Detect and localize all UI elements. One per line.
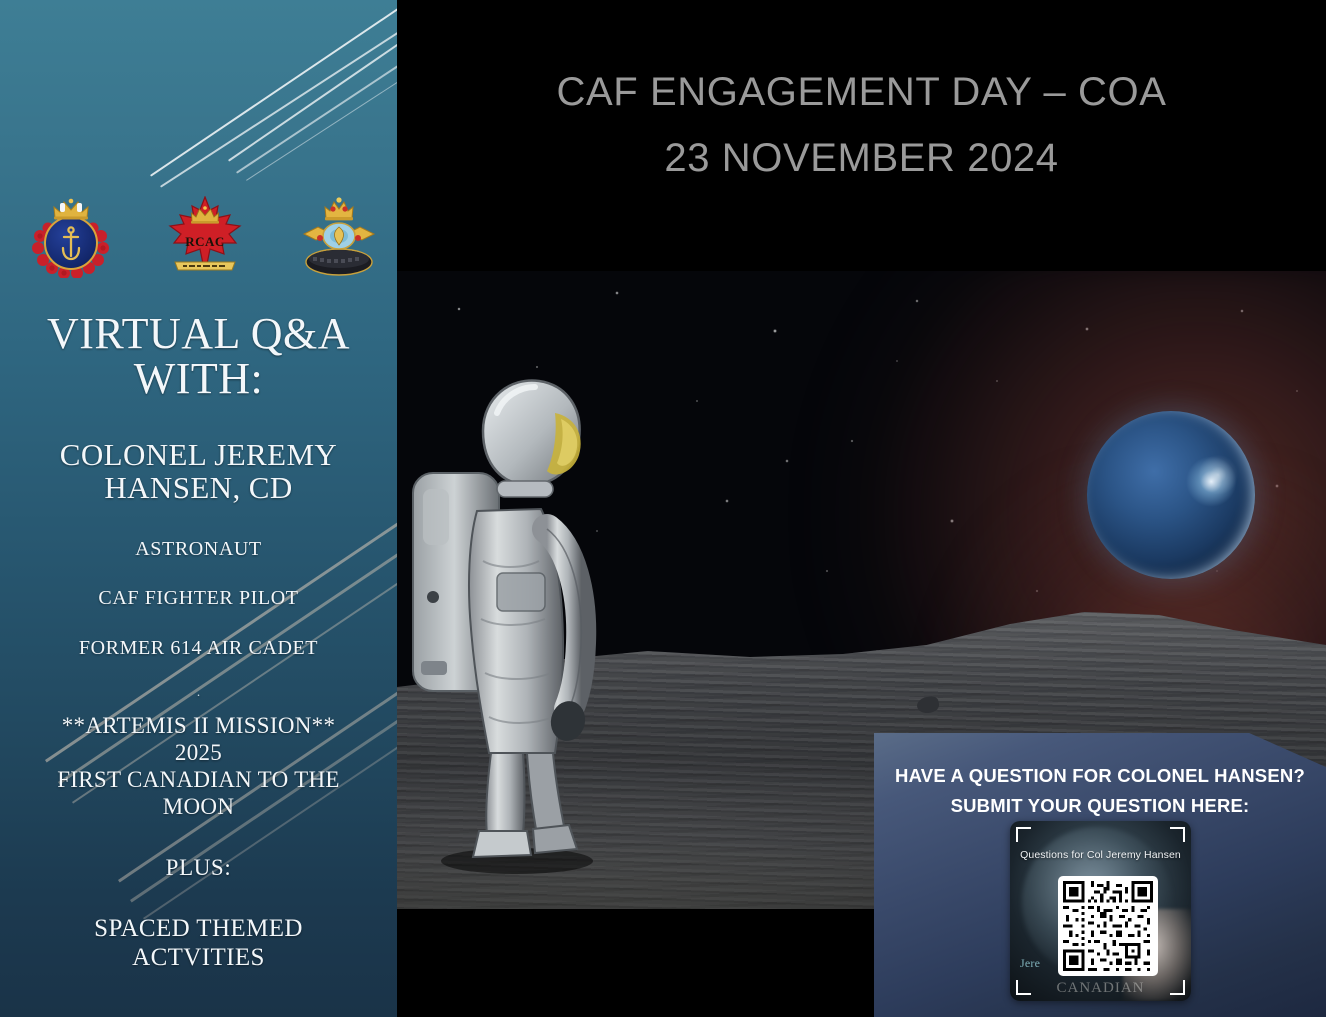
guest-role-fighter-pilot: CAF FIGHTER PILOT [0, 587, 397, 610]
astronaut-figure [405, 361, 625, 881]
card-corner-mark [1016, 827, 1031, 842]
rcac-monogram: RCAC [164, 234, 246, 250]
activities-line-1: SPACED THEMED [0, 915, 397, 944]
crown-icon [190, 206, 220, 224]
card-overlay-text-1: Jere [1020, 956, 1040, 971]
text-separator: . [0, 684, 397, 700]
card-overlay-text-2: CANADIAN [1010, 980, 1191, 997]
qr-prompt-line-2: SUBMIT YOUR QUESTION HERE: [874, 797, 1326, 816]
earth-limb-highlight [1087, 411, 1255, 579]
guest-role-astronaut: ASTRONAUT [0, 538, 397, 561]
mission-line-3: FIRST CANADIAN TO THE [8, 766, 389, 793]
activities-line-2: ACTVITIES [0, 944, 397, 973]
question-submission-qr-code[interactable] [1058, 876, 1158, 976]
mission-line-2: 2025 [8, 739, 389, 766]
qr-matrix [1063, 881, 1153, 971]
royal-crown-icon [52, 198, 90, 220]
guest-name-line-2: HANSEN, CD [22, 471, 375, 504]
page-title: CAF ENGAGEMENT DAY – COA [556, 72, 1166, 112]
card-corner-mark [1016, 980, 1031, 995]
activities-block: SPACED THEMED ACTVITIES [0, 915, 397, 972]
virtual-qa-headline: VIRTUAL Q&A WITH: [0, 312, 397, 402]
card-corner-mark [1170, 827, 1185, 842]
poster-header: CAF ENGAGEMENT DAY – COA 23 NOVEMBER 202… [397, 0, 1326, 271]
qr-code-card[interactable]: Questions for Col Jeremy Hansen Jere CAN… [1010, 821, 1191, 1001]
mission-line-1: **ARTEMIS II MISSION** [8, 712, 389, 739]
left-panel-copy: VIRTUAL Q&A WITH: COLONEL JEREMY HANSEN,… [0, 0, 397, 1017]
guest-role-air-cadet: FORMER 614 AIR CADET [0, 637, 397, 660]
poster-slide: RCAC [0, 0, 1326, 1017]
anchor-icon [60, 226, 82, 262]
qr-prompt-line-1: HAVE A QUESTION FOR COLONEL HANSEN? [874, 767, 1326, 786]
cadet-badges-row: RCAC [0, 196, 397, 278]
event-date: 23 NOVEMBER 2024 [664, 138, 1058, 178]
mission-line-4: MOON [8, 793, 389, 820]
guest-name-line-1: COLONEL JEREMY [22, 438, 375, 471]
headline-line-2: WITH: [0, 357, 397, 402]
motto-scroll-icon [174, 258, 236, 273]
guest-name: COLONEL JEREMY HANSEN, CD [22, 438, 375, 505]
eagle-crest-icon [298, 196, 380, 278]
headline-line-1: VIRTUAL Q&A [0, 312, 397, 357]
contrail-streak-icon [236, 56, 397, 173]
royal-canadian-air-cadets-badge [298, 196, 380, 278]
left-info-panel: RCAC [0, 0, 397, 1017]
qr-card-label: Questions for Col Jeremy Hansen [1010, 849, 1191, 861]
artemis-mission-block: **ARTEMIS II MISSION** 2025 FIRST CANADI… [8, 712, 389, 821]
royal-canadian-army-cadets-badge: RCAC [164, 196, 246, 278]
royal-canadian-sea-cadets-badge [30, 196, 112, 278]
plus-label: PLUS: [0, 855, 397, 881]
question-submission-panel: HAVE A QUESTION FOR COLONEL HANSEN? SUBM… [874, 733, 1326, 1017]
card-corner-mark [1170, 980, 1185, 995]
